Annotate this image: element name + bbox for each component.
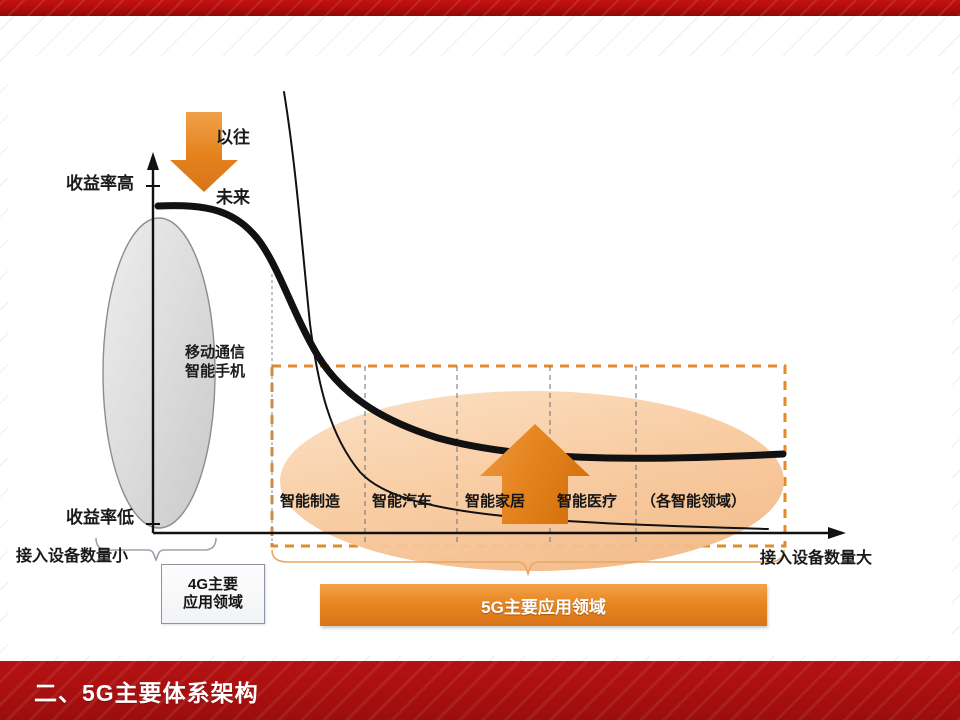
callout-4g-line1: 4G主要 bbox=[183, 576, 243, 594]
callout-box-4g: 4G主要 应用领域 bbox=[161, 564, 265, 624]
x-axis-arrowhead bbox=[828, 527, 846, 539]
series-label-past: 以往 bbox=[216, 128, 250, 147]
slide-background: 收益率高 收益率低 接入设备数量小 接入设备数量大 以往 未来 移动通信 智能手… bbox=[0, 0, 960, 720]
category-label-3: 智能医疗 bbox=[557, 490, 617, 511]
section-title: 二、5G主要体系架构 bbox=[34, 674, 259, 708]
x-axis-label-left: 接入设备数量小 bbox=[16, 548, 128, 566]
series-label-future: 未来 bbox=[216, 188, 250, 207]
x-axis-label-right: 接入设备数量大 bbox=[760, 550, 872, 568]
callout-box-5g: 5G主要应用领域 bbox=[320, 584, 767, 626]
y-axis-arrowhead bbox=[147, 152, 159, 170]
region-4g-label-line1: 移动通信 bbox=[159, 344, 271, 363]
category-label-1: 智能汽车 bbox=[372, 490, 432, 511]
chart-canvas: 收益率高 收益率低 接入设备数量小 接入设备数量大 以往 未来 移动通信 智能手… bbox=[8, 56, 952, 656]
category-label-0: 智能制造 bbox=[280, 490, 340, 511]
category-label-4: （各智能领域） bbox=[641, 490, 746, 511]
category-label-2: 智能家居 bbox=[465, 490, 525, 511]
down-arrow-icon bbox=[170, 112, 238, 192]
callout-4g-line2: 应用领域 bbox=[183, 594, 243, 612]
region-4g-label: 移动通信 智能手机 bbox=[159, 344, 271, 382]
top-red-band bbox=[0, 0, 960, 16]
y-axis-label-high: 收益率高 bbox=[66, 174, 134, 193]
y-axis-label-low: 收益率低 bbox=[66, 508, 134, 527]
callout-5g-label: 5G主要应用领域 bbox=[481, 593, 606, 618]
footer-red-band: 二、5G主要体系架构 bbox=[0, 661, 960, 720]
region-4g-label-line2: 智能手机 bbox=[159, 363, 271, 382]
